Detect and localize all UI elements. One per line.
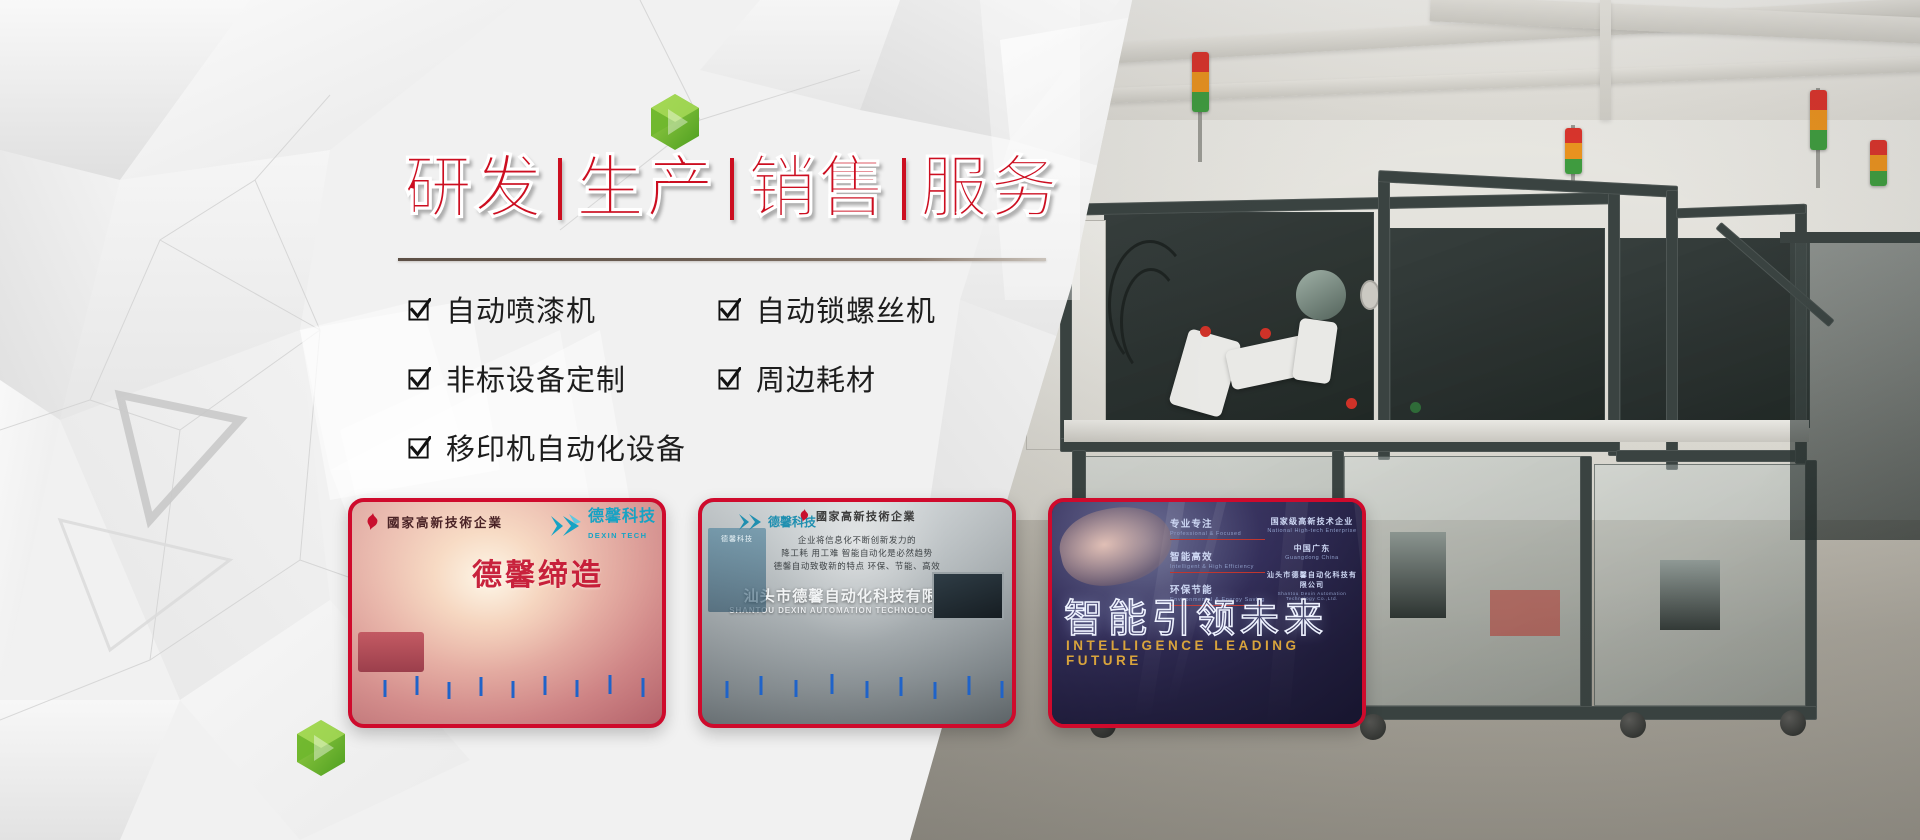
thumb3-credential-cn: 汕头市德馨自动化科技有限公司 (1264, 570, 1360, 590)
thumb3-value-cn: 智能高效 (1170, 549, 1265, 563)
booth-display-screen (932, 572, 1004, 620)
feature-label: 自动喷漆机 (446, 288, 596, 330)
thumb1-badge: 國家高新技術企業 (387, 512, 503, 531)
feature-list: 自动喷漆机 自动锁螺丝机 非标设备定制 (408, 288, 1048, 468)
banner-content: 研发 生产 销售 服务 自动喷漆机 (0, 0, 1100, 840)
checkbox-checked-icon (718, 298, 741, 321)
list-item: 非标设备定制 (408, 357, 718, 399)
headline-word-sales: 销售 (734, 155, 902, 223)
thumb1-logo-en: DEXIN TECH (588, 531, 647, 540)
thumb3-credential-cn: 国家级高新技术企业 (1264, 516, 1360, 527)
checkbox-checked-icon (408, 298, 431, 321)
dexin-logo: 德馨科技 DEXIN TECH (549, 509, 656, 543)
thumb1-slogan: 德馨缔造 (472, 550, 604, 594)
feature-label: 非标设备定制 (446, 357, 626, 399)
thumb3-credential-cn: 中国广东 (1264, 543, 1360, 554)
checkbox-checked-icon (408, 436, 431, 459)
people-group (352, 632, 662, 724)
photo-gallery: 國家高新技術企業 德馨科技 DEXIN TECH (348, 498, 1366, 728)
list-item: 移印机自动化设备 (408, 426, 1018, 468)
thumb3-value-en: Professional & Focused (1170, 531, 1265, 537)
exhibition-booth-photo[interactable]: 德馨科技 國家高新技術企業 企业将信息化不断创新发力的 降工耗 用工难 智能自动… (698, 498, 1016, 728)
feature-label: 自动锁螺丝机 (756, 288, 936, 330)
flame-emblem-icon (798, 509, 810, 523)
checkbox-checked-icon (408, 367, 431, 390)
thumb3-value-cn: 专业专注 (1170, 516, 1265, 530)
headline-word-produce: 生产 (562, 155, 730, 223)
hexagon-play-icon (294, 718, 348, 778)
page-title: 研发 生产 销售 服务 (390, 155, 1074, 223)
list-item: 周边耗材 (718, 357, 1018, 399)
people-group (702, 632, 1012, 724)
title-divider (398, 258, 1046, 261)
checkbox-checked-icon (718, 367, 741, 390)
thumb3-value-en: Intelligent & High Efficiency (1170, 564, 1265, 570)
award-ceremony-photo[interactable]: 國家高新技術企業 德馨科技 DEXIN TECH (348, 498, 666, 728)
thumb3-credential-en: National High-tech Enterprise (1264, 528, 1360, 534)
intelligent-future-photo[interactable]: 专业专注 Professional & Focused 智能高效 Intelli… (1048, 498, 1366, 728)
feature-label: 移印机自动化设备 (446, 426, 686, 468)
list-item: 自动锁螺丝机 (718, 288, 1018, 330)
dexin-mark-icon (549, 513, 583, 539)
thumb3-headline-cn: 智能引领未来 (1064, 588, 1328, 644)
list-item: 自动喷漆机 (408, 288, 718, 330)
flame-emblem-icon (364, 513, 380, 531)
hexagon-play-icon (648, 92, 702, 152)
thumb2-badge: 國家高新技術企業 (816, 508, 916, 524)
headline-word-rd: 研发 (390, 155, 558, 223)
thumb3-credential-en: Guangdong China (1264, 555, 1360, 561)
thumb1-logo-cn: 德馨科技 (588, 508, 656, 525)
feature-label: 周边耗材 (756, 357, 876, 399)
promo-banner: 研发 生产 销售 服务 自动喷漆机 (0, 0, 1920, 840)
people-group (1052, 654, 1362, 724)
headline-word-service: 服务 (906, 155, 1074, 223)
booth-side-panel: 德馨科技 (708, 528, 766, 612)
